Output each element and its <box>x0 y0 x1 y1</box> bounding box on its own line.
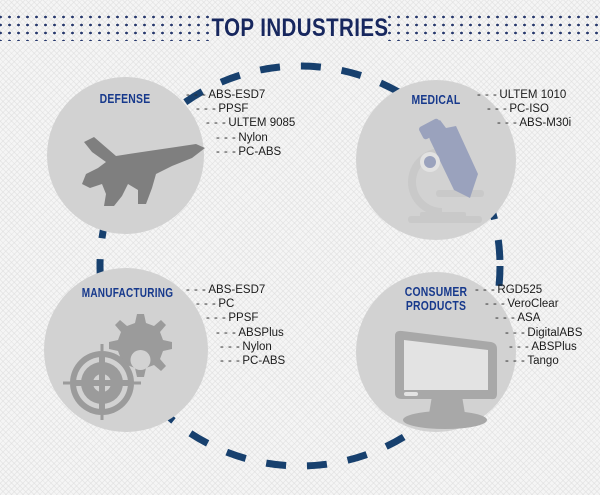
list-item: - - -ULTEM 1010 <box>477 88 571 102</box>
list-item: - - -ABSPlus <box>475 340 582 354</box>
dash-prefix-icon: - - - <box>485 298 505 310</box>
material-name: ABS-ESD7 <box>208 89 265 101</box>
material-name: ABS-ESD7 <box>208 284 265 296</box>
list-item: - - -VeroClear <box>475 297 582 311</box>
gears-icon <box>62 308 192 420</box>
list-item: - - -DigitalABS <box>475 326 582 340</box>
infographic-canvas: TOP INDUSTRIES DEFENSE - - -ABS-ESD7 - -… <box>0 0 600 495</box>
header: TOP INDUSTRIES <box>0 0 600 52</box>
material-name: ABSPlus <box>531 341 576 353</box>
material-name: ULTEM 1010 <box>499 89 566 101</box>
list-item: - - -ABS-ESD7 <box>186 283 285 297</box>
material-name: PPSF <box>228 312 258 324</box>
list-item: - - -PC-ISO <box>477 102 571 116</box>
manufacturing-material-list: - - -ABS-ESD7 - - -PC - - -PPSF - - -ABS… <box>186 283 285 368</box>
defense-material-list: - - -ABS-ESD7 - - -PPSF - - -ULTEM 9085 … <box>186 88 295 159</box>
material-name: Nylon <box>242 341 271 353</box>
material-name: ABS-M30i <box>519 117 571 129</box>
material-name: PC-ABS <box>238 146 281 158</box>
list-item: - - -PC <box>186 297 285 311</box>
list-item: - - -Nylon <box>186 340 285 354</box>
medical-material-list: - - -ULTEM 1010 - - -PC-ISO - - -ABS-M30… <box>477 88 571 131</box>
list-item: - - -Tango <box>475 354 582 368</box>
dash-prefix-icon: - - - <box>206 117 226 129</box>
dash-prefix-icon: - - - <box>216 146 236 158</box>
material-name: RGD525 <box>497 284 542 296</box>
list-item: - - -PPSF <box>186 102 295 116</box>
dash-prefix-icon: - - - <box>505 355 525 367</box>
manufacturing-label: MANUFACTURING <box>62 286 194 300</box>
material-name: ABSPlus <box>238 327 283 339</box>
material-name: ULTEM 9085 <box>228 117 295 129</box>
list-item: - - -ULTEM 9085 <box>186 116 295 130</box>
dash-prefix-icon: - - - <box>220 355 240 367</box>
dash-prefix-icon: - - - <box>186 89 206 101</box>
dash-prefix-icon: - - - <box>509 341 529 353</box>
medical-label: MEDICAL <box>388 93 484 107</box>
defense-label: DEFENSE <box>73 92 177 106</box>
material-name: PC-ISO <box>509 103 549 115</box>
material-name: PC <box>218 298 234 310</box>
dash-prefix-icon: - - - <box>495 312 515 324</box>
material-name: PC-ABS <box>242 355 285 367</box>
dash-prefix-icon: - - - <box>475 284 495 296</box>
dash-prefix-icon: - - - <box>220 341 240 353</box>
list-item: - - -ABS-ESD7 <box>186 88 295 102</box>
list-item: - - -RGD525 <box>475 283 582 297</box>
dash-prefix-icon: - - - <box>477 89 497 101</box>
material-name: VeroClear <box>507 298 558 310</box>
dash-prefix-icon: - - - <box>505 327 525 339</box>
material-name: DigitalABS <box>527 327 582 339</box>
material-name: ASA <box>517 312 540 324</box>
material-name: PPSF <box>218 103 248 115</box>
dash-prefix-icon: - - - <box>196 103 216 115</box>
material-name: Tango <box>527 355 558 367</box>
dash-prefix-icon: - - - <box>196 298 216 310</box>
dash-prefix-icon: - - - <box>216 327 236 339</box>
dash-prefix-icon: - - - <box>206 312 226 324</box>
dash-prefix-icon: - - - <box>487 103 507 115</box>
dash-prefix-icon: - - - <box>186 284 206 296</box>
list-item: - - -PC-ABS <box>186 354 285 368</box>
page-title: TOP INDUSTRIES <box>54 14 546 43</box>
material-name: Nylon <box>238 132 267 144</box>
consumer-products-material-list: - - -RGD525 - - -VeroClear - - -ASA - - … <box>475 283 582 368</box>
list-item: - - -ASA <box>475 311 582 325</box>
list-item: - - -Nylon <box>186 131 295 145</box>
list-item: - - -PPSF <box>186 311 285 325</box>
dash-prefix-icon: - - - <box>216 132 236 144</box>
list-item: - - -ABS-M30i <box>477 116 571 130</box>
consumer-products-label: CONSUMER PRODUCTS <box>387 285 485 313</box>
dash-prefix-icon: - - - <box>497 117 517 129</box>
list-item: - - -ABSPlus <box>186 326 285 340</box>
list-item: - - -PC-ABS <box>186 145 295 159</box>
